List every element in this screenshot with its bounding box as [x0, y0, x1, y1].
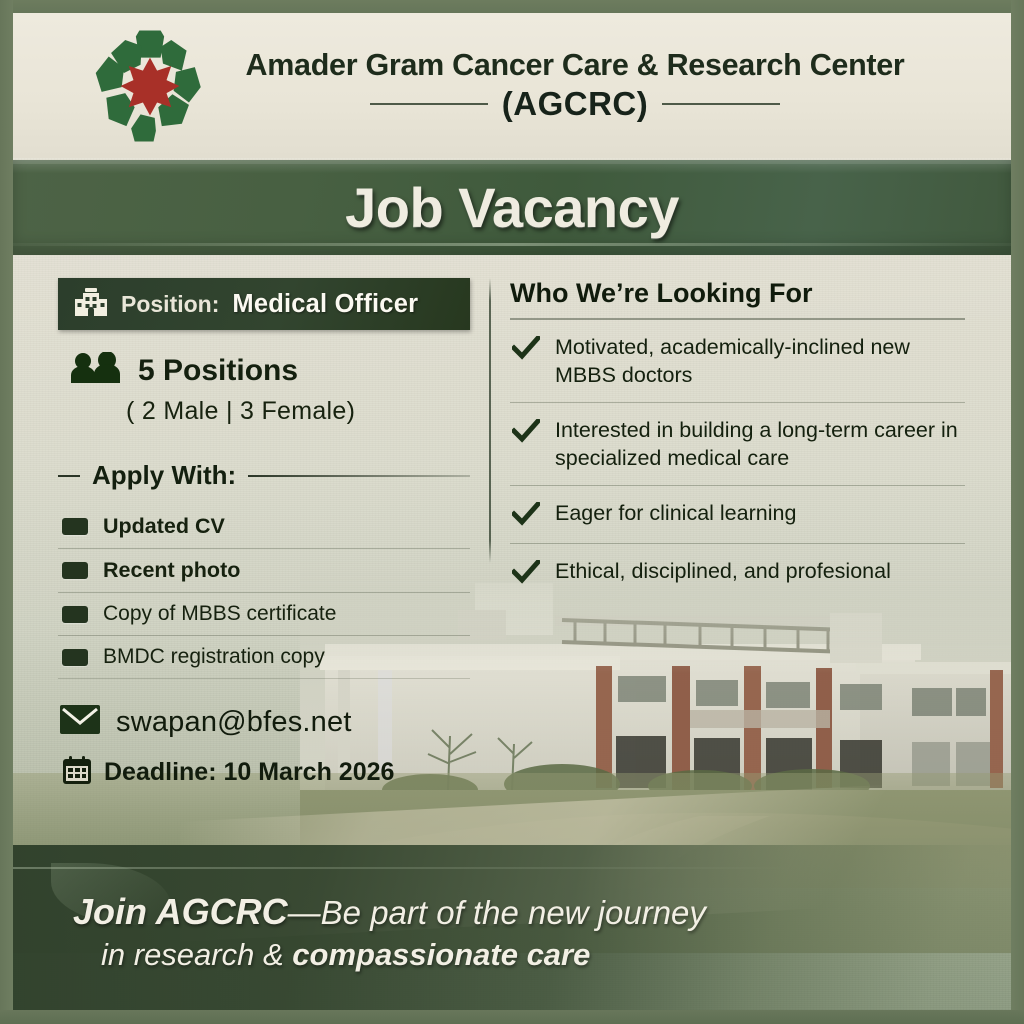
job-vacancy-poster: Amader Gram Cancer Care & Research Cente…	[0, 0, 1024, 1024]
list-item: Recent photo	[58, 549, 470, 593]
check-icon	[512, 560, 540, 589]
org-abbreviation: (AGCRC)	[502, 85, 648, 123]
footer-line2-prefix: in research &	[101, 937, 292, 972]
banner-title: Job Vacancy	[345, 175, 679, 240]
deadline-row: Deadline: 10 March 2026	[58, 755, 470, 790]
looking-for-item-label: Eager for clinical learning	[555, 499, 796, 531]
looking-for-heading: Who We’re Looking For	[510, 278, 965, 309]
apply-with-label: Apply With:	[92, 460, 236, 491]
abbr-rule-left	[370, 103, 488, 105]
apply-item-label: Copy of MBBS certificate	[103, 602, 336, 626]
looking-for-item-label: Motivated, academically-inclined new MBB…	[555, 333, 965, 390]
bullet-square-icon	[62, 562, 88, 579]
heading-dash-left	[58, 475, 80, 477]
job-vacancy-banner: Job Vacancy	[13, 160, 1011, 255]
org-identity: Amader Gram Cancer Care & Research Cente…	[209, 48, 1011, 123]
footer-tagline-line2: in research & compassionate care	[101, 937, 590, 973]
frame-border-right	[1011, 0, 1024, 1024]
position-label: Position:	[121, 291, 219, 318]
list-item: Interested in building a long-term caree…	[510, 403, 965, 486]
bullet-square-icon	[62, 606, 88, 623]
hospital-icon	[74, 287, 108, 322]
right-column: Who We’re Looking For Motivated, academi…	[510, 278, 965, 601]
agcrc-logo-icon	[91, 27, 209, 145]
bullet-square-icon	[62, 649, 88, 666]
apply-requirements-list: Updated CV Recent photo Copy of MBBS cer…	[58, 505, 470, 679]
list-item: Updated CV	[58, 505, 470, 549]
list-item: Motivated, academically-inclined new MBB…	[510, 320, 965, 403]
check-icon	[512, 336, 540, 390]
list-item: Eager for clinical learning	[510, 486, 965, 544]
column-divider	[489, 278, 491, 563]
positions-count: 5 Positions	[138, 354, 298, 388]
poster-footer: Join AGCRC—Be part of the new journey in…	[13, 845, 1011, 1010]
contact-email[interactable]: swapan@bfes.net	[116, 706, 352, 739]
abbr-rule-right	[662, 103, 780, 105]
bullet-square-icon	[62, 518, 88, 535]
contact-email-row[interactable]: swapan@bfes.net	[58, 705, 470, 739]
apply-item-label: Recent photo	[103, 558, 240, 583]
footer-tagline-rest: —Be part of the new journey	[288, 894, 706, 931]
frame-border-left	[0, 0, 13, 1024]
people-icon	[70, 352, 122, 389]
list-item: Ethical, disciplined, and profesional	[510, 544, 965, 601]
footer-line2-strong: compassionate care	[292, 937, 590, 972]
apply-item-label: Updated CV	[103, 514, 225, 539]
position-value: Medical Officer	[232, 290, 418, 319]
check-icon	[512, 502, 540, 531]
envelope-icon	[60, 705, 100, 739]
apply-with-heading: Apply With:	[58, 460, 470, 491]
left-column: Position: Medical Officer 5 Positions ( …	[58, 278, 470, 790]
heading-rule-right	[248, 475, 470, 477]
positions-breakdown: ( 2 Male | 3 Female)	[58, 397, 470, 426]
looking-for-item-label: Interested in building a long-term caree…	[555, 416, 965, 473]
deadline-text: Deadline: 10 March 2026	[104, 758, 394, 787]
apply-item-label: BMDC registration copy	[103, 645, 325, 669]
frame-border-bottom	[0, 1010, 1024, 1024]
position-bar: Position: Medical Officer	[58, 278, 470, 330]
list-item: Copy of MBBS certificate	[58, 593, 470, 636]
footer-join-label: Join AGCRC	[73, 891, 288, 932]
org-name: Amader Gram Cancer Care & Research Cente…	[209, 48, 941, 83]
calendar-icon	[62, 755, 92, 790]
list-item: BMDC registration copy	[58, 636, 470, 679]
frame-border-top	[0, 0, 1024, 13]
poster-header: Amader Gram Cancer Care & Research Cente…	[13, 13, 1011, 158]
check-icon	[512, 419, 540, 473]
positions-count-row: 5 Positions	[58, 352, 470, 389]
footer-tagline-line1: Join AGCRC—Be part of the new journey	[73, 891, 706, 933]
looking-for-item-label: Ethical, disciplined, and profesional	[555, 557, 891, 589]
